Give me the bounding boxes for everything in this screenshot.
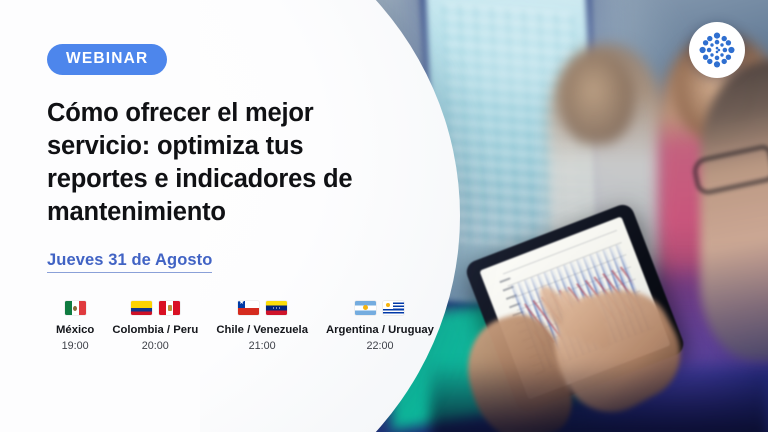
timezone-time: 20:00 [112,340,198,353]
webinar-banner: WEBINAR Cómo ofrecer el mejor servicio: … [0,0,768,432]
page-title: Cómo ofrecer el mejor servicio: optimiza… [47,97,397,230]
timezone-name: México [56,323,94,337]
timezone-flags [56,301,94,316]
timezone-flags [216,301,308,316]
timezone-item-colombia-peru: Colombia / Peru 20:00 [103,301,207,353]
chile-flag-icon [238,301,259,315]
brand-logo-icon [699,32,735,68]
mexico-flag-icon [65,301,86,315]
banner-content: WEBINAR Cómo ofrecer el mejor servicio: … [47,44,437,353]
photo-bottom-shade [430,362,768,432]
person-glasses-foreground [700,60,768,360]
timezone-item-mexico: México 19:00 [47,301,103,353]
uruguay-flag-icon [383,301,404,315]
timezone-list: México 19:00 Colombia / Peru 20:00 Chile… [47,301,437,353]
person-pale-shirt-head [560,52,634,144]
argentina-flag-icon [355,301,376,315]
timezone-name: Argentina / Uruguay [326,323,434,337]
webinar-badge: WEBINAR [47,44,167,75]
timezone-time: 19:00 [56,340,94,353]
webinar-date: Jueves 31 de Agosto [47,251,212,273]
timezone-item-chile-venezuela: Chile / Venezuela 21:00 [207,301,317,353]
timezone-time: 21:00 [216,340,308,353]
timezone-time: 22:00 [326,340,434,353]
peru-flag-icon [159,301,180,315]
venezuela-flag-icon [266,301,287,315]
timezone-item-argentina-uruguay: Argentina / Uruguay 22:00 [317,301,443,353]
timezone-name: Chile / Venezuela [216,323,308,337]
colombia-flag-icon [131,301,152,315]
timezone-flags [326,301,434,316]
timezone-name: Colombia / Peru [112,323,198,337]
brand-logo[interactable] [689,22,745,78]
timezone-flags [112,301,198,316]
